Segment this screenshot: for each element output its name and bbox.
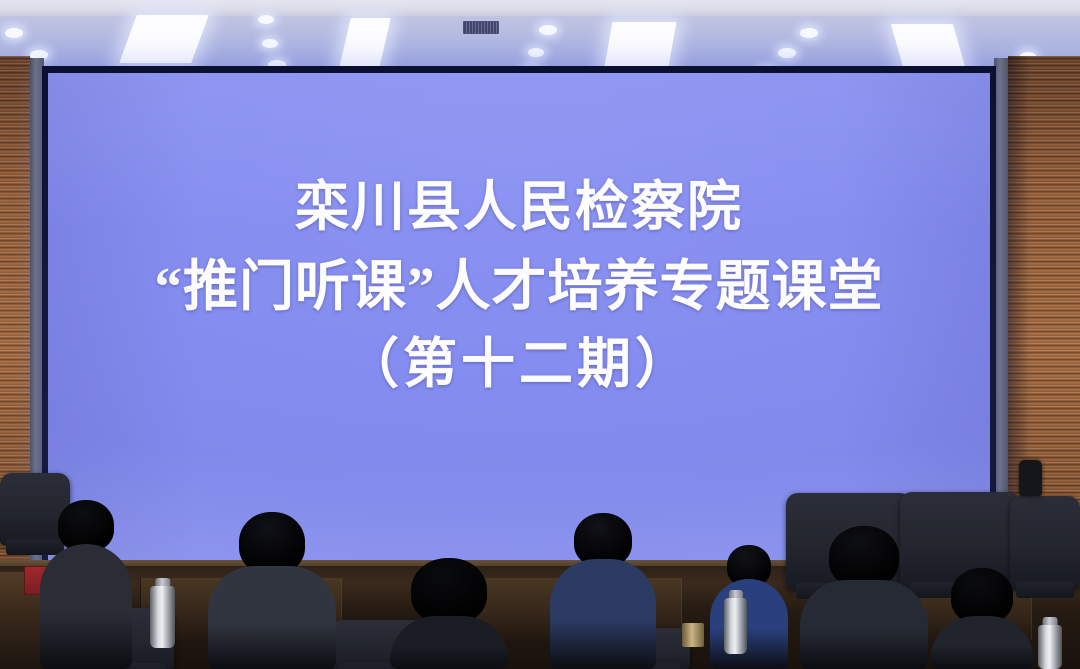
ceiling-downlight-4 [262,39,278,48]
ceiling-downlight-7 [528,48,544,57]
ceiling-panel-light-3 [604,22,677,72]
audience-member-head-2 [239,512,305,574]
audience-member-5 [710,545,788,669]
slide-text-block: 栾川县人民检察院 “推门听课”人才培养专题课堂 （第十二期） [48,169,990,404]
slide-title-line-3: （第十二期） [48,326,990,404]
thermos-body-3 [1038,625,1062,669]
ceiling-downlight-3 [258,15,274,24]
slide-title-line-1: 栾川县人民检察院 [48,169,990,247]
thermos-bottle-2 [724,590,747,654]
audience-member-body-5 [710,579,788,669]
ceiling-panel-light-2 [339,18,391,68]
audience-member-2 [208,512,336,669]
audience-member-body-2 [208,566,336,669]
thermos-bottle-3 [1038,617,1062,669]
audience-member-1 [40,500,132,669]
audience-member-body-7 [930,616,1034,669]
ceiling-downlight-1 [5,28,23,38]
conference-hall-photo: 栾川县人民检察院 “推门听课”人才培养专题课堂 （第十二期） [0,0,1080,669]
ceiling-downlight-6 [539,25,557,35]
slide-title-line-2: “推门听课”人才培养专题课堂 [48,247,990,326]
audience-member-body-3 [390,616,508,669]
audience-member-7 [930,568,1034,669]
microphone-1 [1019,460,1042,496]
ceiling-panel-light-1 [119,15,208,63]
audience-member-body-6 [800,580,928,669]
ceiling-downlight-9 [800,28,818,38]
audience-member-3 [390,558,508,669]
ceiling-downlight-10 [778,48,796,58]
paper-cup-1 [682,623,704,647]
thermos-body-2 [724,598,747,654]
audience-member-head-3 [411,558,487,624]
audience-member-head-6 [829,526,899,588]
ceiling-soffit [0,0,1080,16]
thermos-body-1 [150,586,175,648]
thermos-bottle-1 [150,578,175,648]
ceiling-air-vent [463,21,499,34]
audience-member-body-1 [40,544,132,669]
audience-member-4 [550,513,656,669]
audience-member-6 [800,526,928,669]
audience-member-body-4 [550,559,656,669]
